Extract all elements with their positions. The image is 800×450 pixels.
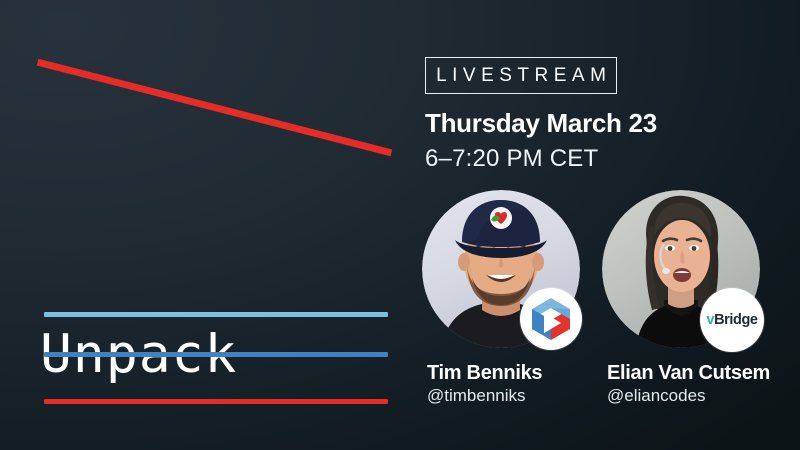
status-badge: LIVESTREAM (425, 57, 617, 94)
livestream-promo-poster: Unpack the stack LIVESTREAM Thursday Mar… (0, 0, 800, 450)
vbridge-logo-icon: vBridge (706, 312, 757, 328)
accent-bar-red (44, 399, 388, 404)
uniform-logo-icon (527, 295, 575, 343)
speaker-handle: @eliancodes (607, 386, 706, 406)
right-panel: LIVESTREAM Thursday March 23 6–7:20 PM C… (400, 0, 800, 450)
left-panel: Unpack the stack (0, 0, 400, 450)
accent-bar-blue (44, 352, 388, 357)
speaker-handle: @timbenniks (427, 386, 526, 406)
vbridge-logo-badge: vBridge (700, 288, 764, 352)
speaker-name: Tim Benniks (427, 362, 542, 385)
livestream-badge-label: LIVESTREAM (431, 65, 612, 87)
speaker-name: Elian Van Cutsem (607, 362, 770, 385)
page-title: Unpack the stack (40, 150, 400, 450)
uniform-logo-badge (520, 288, 582, 350)
event-date: Thursday March 23 (425, 108, 657, 139)
vbridge-wordmark: Bridge (714, 312, 758, 328)
event-time: 6–7:20 PM CET (425, 145, 598, 173)
accent-bar-light-blue (44, 312, 388, 317)
speaker-card: Tim Benniks @timbenniks (420, 190, 610, 440)
speaker-card: vBridge Elian Van Cutsem @eliancodes (600, 190, 790, 440)
